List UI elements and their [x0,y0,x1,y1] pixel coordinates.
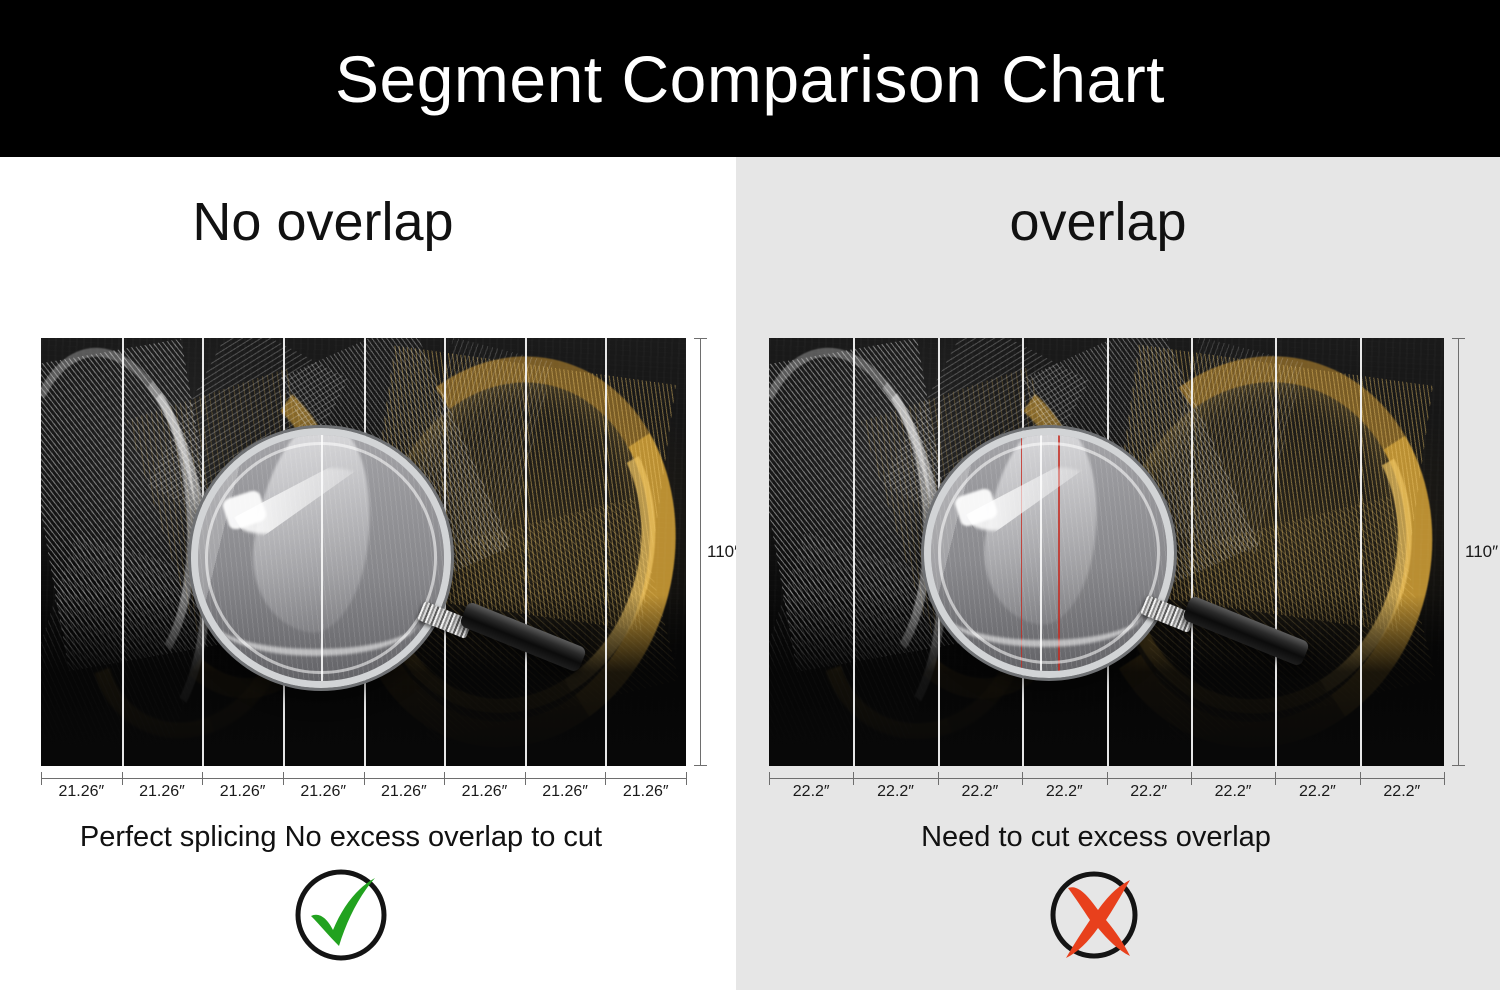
artwork-image-no-overlap [41,338,686,766]
panel-no-overlap: No overlap [0,157,736,990]
segment-width-label: 21.26″ [525,783,606,801]
segment-width-label: 22.2″ [1275,783,1359,801]
segment-divider [202,338,204,766]
segment-divider [853,338,855,766]
segment-divider-lines-right [769,338,1444,766]
segment-width-label: 21.26″ [41,783,122,801]
verdict-no-overlap [0,862,736,966]
segment-comparison-page: Segment Comparison Chart No overlap [0,0,1500,990]
segment-divider [525,338,527,766]
segment-divider [1275,338,1277,766]
segment-width-label: 22.2″ [1107,783,1191,801]
segment-width-label: 22.2″ [853,783,937,801]
segment-divider [1022,338,1024,766]
check-circle-icon [289,862,393,966]
height-axis-line [700,338,701,766]
segment-width-label: 21.26″ [283,783,364,801]
height-cap-bottom [694,765,707,766]
segment-divider [122,338,124,766]
segment-width-label: 21.26″ [444,783,525,801]
page-header: Segment Comparison Chart [0,0,1500,157]
page-title: Segment Comparison Chart [335,46,1165,112]
artwork-block-overlap: 22.2″ 22.2″ 22.2″ 22.2″ 22.2″ 22.2″ 22.2… [769,338,1444,766]
segment-width-label: 21.26″ [202,783,283,801]
segment-width-label: 22.2″ [1022,783,1106,801]
panel-overlap: overlap [736,157,1500,990]
segment-width-label: 22.2″ [1360,783,1444,801]
segment-width-label: 21.26″ [364,783,445,801]
segment-width-label: 22.2″ [938,783,1022,801]
height-dimension-right: 110″ [1444,338,1500,766]
segment-dimension-axis-right: 22.2″ 22.2″ 22.2″ 22.2″ 22.2″ 22.2″ 22.2… [769,766,1444,820]
height-axis-line [1458,338,1459,766]
dimension-tick [1444,772,1445,785]
comparison-panels: No overlap [0,157,1500,990]
segment-divider [283,338,285,766]
segment-dimension-axis-left: 21.26″ 21.26″ 21.26″ 21.26″ 21.26″ 21.26… [41,766,686,820]
segment-divider [364,338,366,766]
panel-heading-no-overlap: No overlap [0,195,736,249]
segment-width-label: 21.26″ [122,783,203,801]
height-cap-bottom [1452,765,1465,766]
segment-width-label: 22.2″ [1191,783,1275,801]
segment-width-label: 21.26″ [605,783,686,801]
height-label: 110″ [1465,542,1498,562]
height-cap-top [694,338,707,339]
artwork-block-no-overlap: 21.26″ 21.26″ 21.26″ 21.26″ 21.26″ 21.26… [41,338,686,766]
panel-caption-no-overlap: Perfect splicing No excess overlap to cu… [0,821,736,854]
height-cap-top [1452,338,1465,339]
segment-divider [605,338,607,766]
cross-circle-icon [1044,862,1148,966]
verdict-overlap [736,862,1500,966]
panel-heading-overlap: overlap [736,195,1500,249]
segment-divider [1360,338,1362,766]
segment-width-label: 22.2″ [769,783,853,801]
segment-divider [1191,338,1193,766]
segment-divider [1107,338,1109,766]
segment-divider [444,338,446,766]
panel-caption-overlap: Need to cut excess overlap [736,821,1500,854]
segment-divider-lines-left [41,338,686,766]
segment-divider [938,338,940,766]
artwork-image-overlap [769,338,1444,766]
dimension-tick [686,772,687,785]
